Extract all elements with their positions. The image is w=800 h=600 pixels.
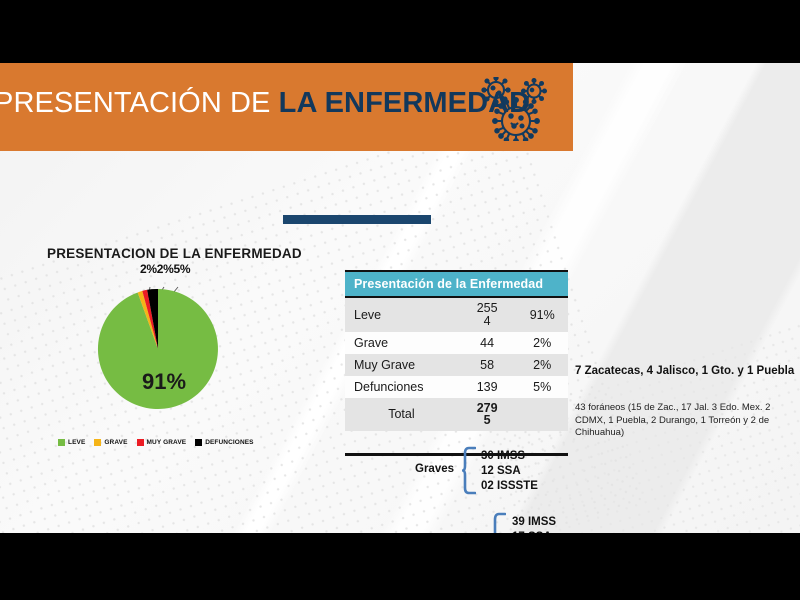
letterbox-top [0,0,800,63]
table-total-row: Total 2795 [345,398,568,432]
legend-item-defunciones: DEFUNCIONES [195,439,253,446]
legend-label-muy-grave: MUY GRAVE [147,439,187,446]
header-banner: PRESENTACIÓN DE LA ENFERMEDAD [0,63,573,151]
table-header-row: Presentación de la Enfermedad [345,271,568,297]
row-count-leve: 2554 [458,297,517,332]
bracket-items-graves: 30 IMSS12 SSA02 ISSSTE [481,449,538,495]
row-count-muy-grave: 58 [458,354,517,376]
table-row: Muy Grave 58 2% [345,354,568,376]
table-row: Leve 2554 91% [345,297,568,332]
pie-slice-labels: 2%2%5% [140,262,190,276]
note-states-bold: 7 Zacatecas, 4 Jalisco, 1 Gto. y 1 Puebl… [575,364,797,378]
table-header-cell: Presentación de la Enfermedad [345,271,568,297]
bracket-graves-icon [462,446,476,496]
legend-label-leve: LEVE [68,439,85,446]
legend-swatch-grave [94,439,101,446]
pie-center-label: 91% [134,369,194,395]
row-label-leve: Leve [345,297,458,332]
note-foraneos: 43 foráneos (15 de Zac., 17 Jal. 3 Edo. … [575,402,793,440]
legend-item-muy-grave: MUY GRAVE [137,439,187,446]
row-label-total: Total [345,398,458,432]
row-label-defunciones: Defunciones [345,376,458,398]
row-label-muy-grave: Muy Grave [345,354,458,376]
title-underline-bar [283,215,431,224]
banner-title: PRESENTACIÓN DE LA ENFERMEDAD [0,87,530,120]
slide-viewer: PRESENTACIÓN DE LA ENFERMEDAD [0,0,800,600]
row-label-grave: Grave [345,332,458,354]
row-pct-leve: 91% [516,297,568,332]
bracket-items-muy-graves: 39 IMSS17 SSA02 ISSSTE [512,515,569,533]
pie-legend: LEVE GRAVE MUY GRAVE DEFUNCIONES [58,439,273,446]
bracket-muy-graves-icon [492,512,506,533]
row-pct-total [516,398,568,432]
row-pct-muy-grave: 2% [516,354,568,376]
table-row: Grave 44 2% [345,332,568,354]
row-count-grave: 44 [458,332,517,354]
legend-item-grave: GRAVE [94,439,127,446]
presentation-table: Presentación de la Enfermedad Leve 2554 … [345,270,568,431]
banner-title-light: PRESENTACIÓN DE [0,87,279,119]
legend-label-defunciones: DEFUNCIONES [205,439,253,446]
bracket-label-graves: Graves [415,463,454,475]
letterbox-bottom [0,533,800,600]
legend-swatch-defunciones [195,439,202,446]
row-pct-grave: 2% [516,332,568,354]
row-count-total: 2795 [458,398,517,432]
pie-chart-title: PRESENTACION DE LA ENFERMEDAD [47,246,302,261]
slide-canvas: PRESENTACIÓN DE LA ENFERMEDAD [0,63,800,533]
legend-swatch-muy-grave [137,439,144,446]
row-count-defunciones: 139 [458,376,517,398]
legend-swatch-leve [58,439,65,446]
row-pct-defunciones: 5% [516,376,568,398]
pie-chart [88,279,228,424]
legend-item-leve: LEVE [58,439,85,446]
table-row: Defunciones 139 5% [345,376,568,398]
legend-label-grave: GRAVE [104,439,127,446]
coronavirus-icon [474,77,558,141]
